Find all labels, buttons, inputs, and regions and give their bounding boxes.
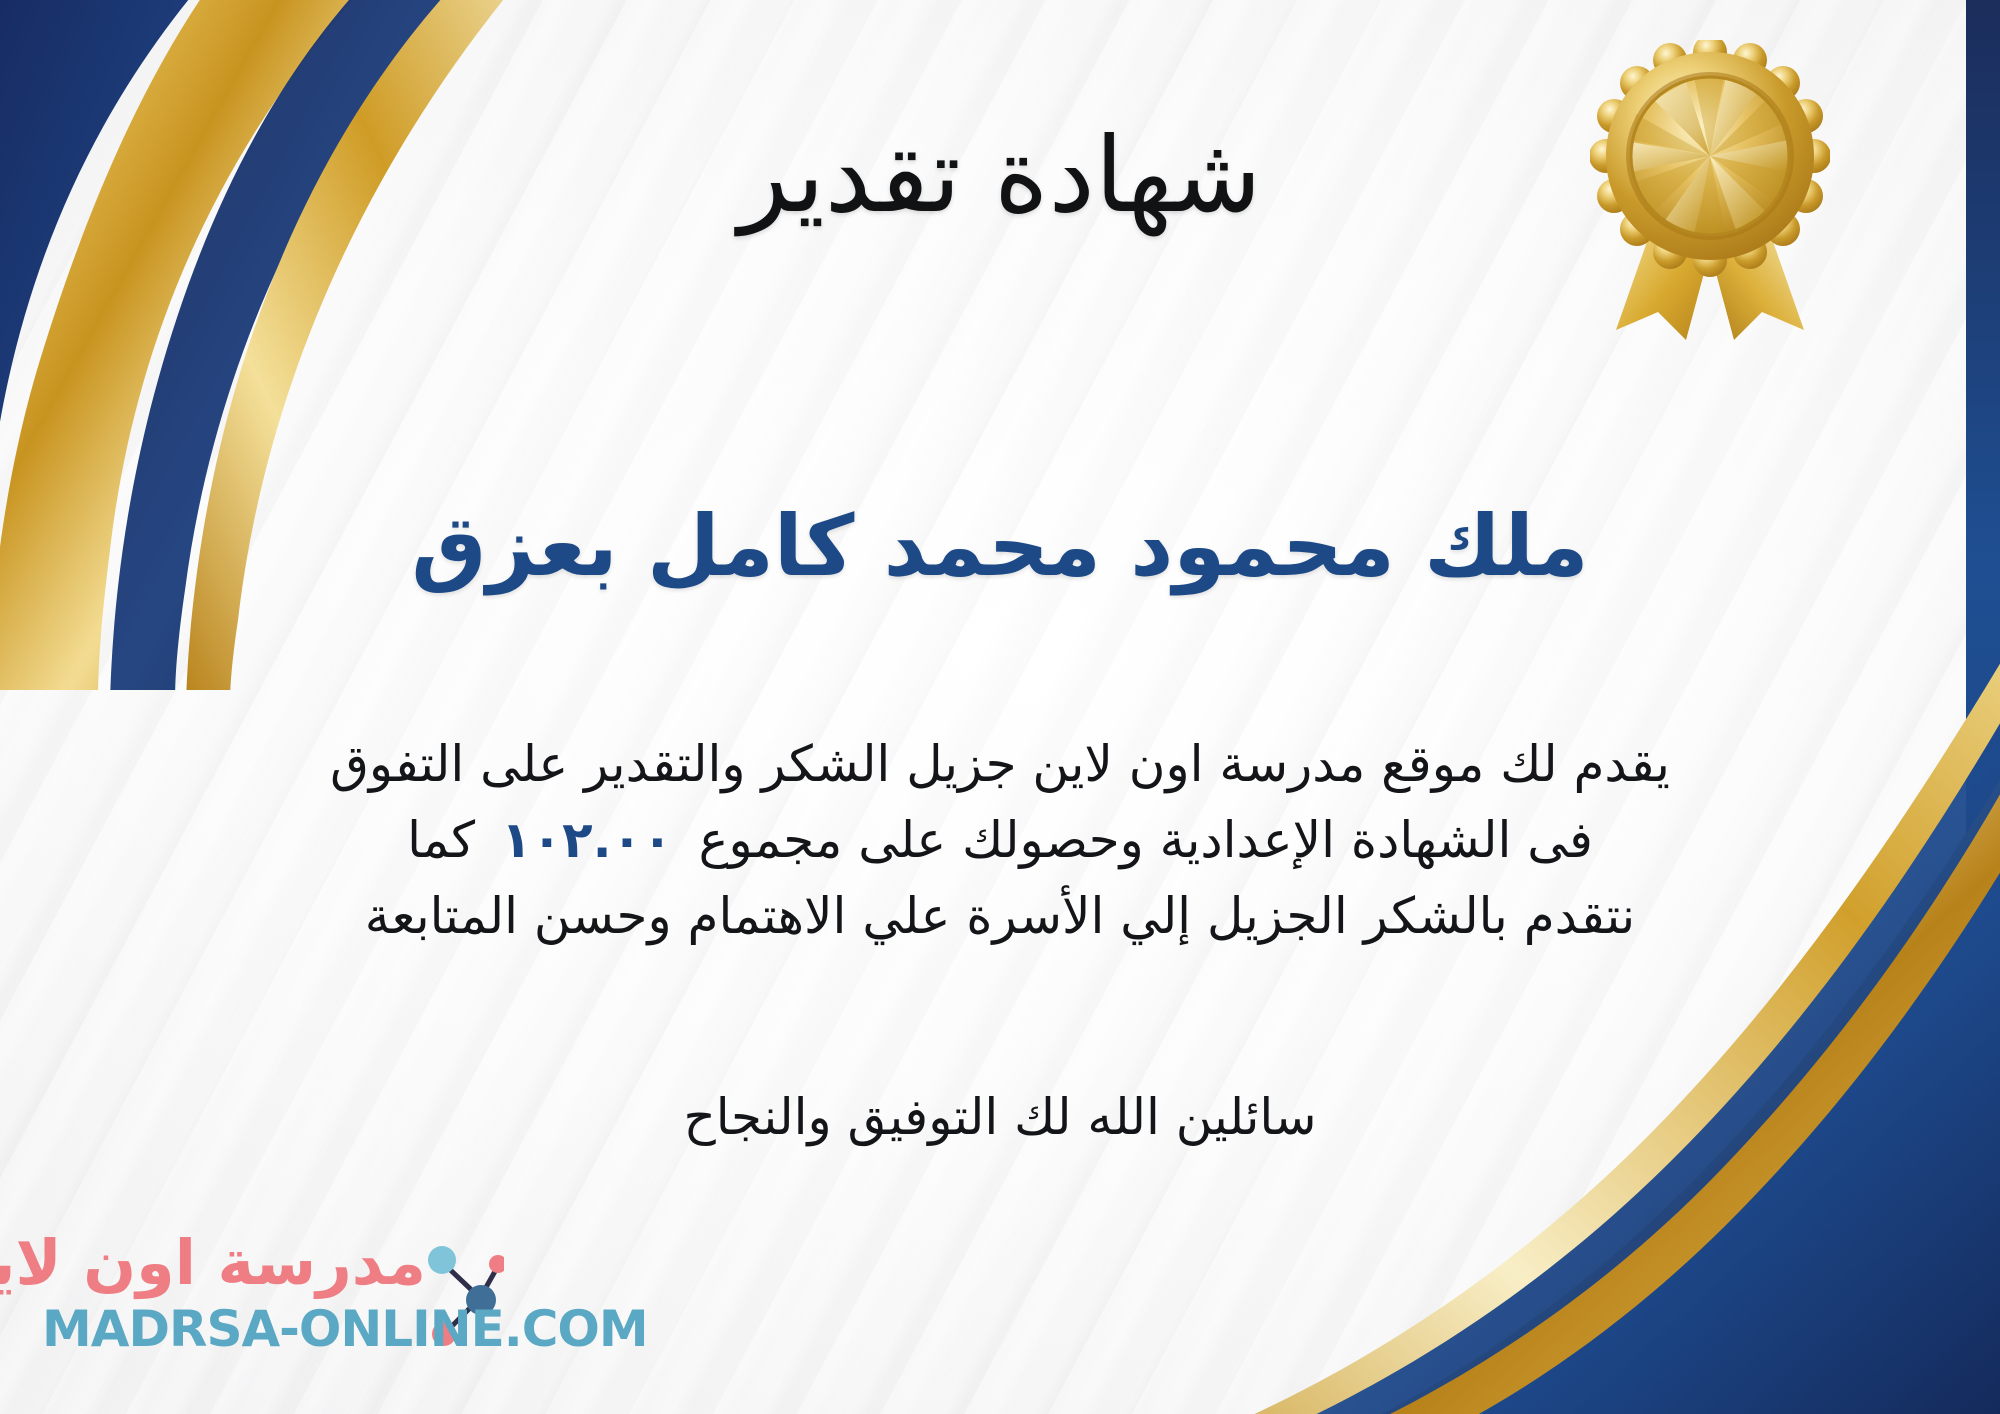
body-line-3: نتقدم بالشكر الجزيل إلي الأسرة علي الاهت… <box>60 878 1940 954</box>
body-line-1: يقدم لك موقع مدرسة اون لاين جزيل الشكر و… <box>60 726 1940 802</box>
certificate-canvas: شهادة تقدير ملك محمود محمد كامل بعزق يقد… <box>0 0 2000 1414</box>
brand-name-arabic: مدرسة اون لاين <box>0 1232 426 1294</box>
certificate-body: يقدم لك موقع مدرسة اون لاين جزيل الشكر و… <box>60 726 1940 954</box>
brand-website: MADRSA-ONLINE.COM <box>42 1304 648 1354</box>
body-line-2-suffix: كما <box>407 811 475 869</box>
page-title: شهادة تقدير <box>0 118 2000 232</box>
body-line-2: فى الشهادة الإعدادية وحصولك على مجموع١٠٢… <box>60 802 1940 878</box>
body-line-2-prefix: فى الشهادة الإعدادية وحصولك على مجموع <box>699 811 1593 869</box>
brand-logo[interactable]: مدرسة اون لاين MADRSA-ONLINE.COM <box>34 1228 504 1378</box>
recipient-name: ملك محمود محمد كامل بعزق <box>0 498 2000 595</box>
total-score-value: ١٠٢.٠٠ <box>475 811 699 869</box>
closing-wish-line: سائلين الله لك التوفيق والنجاح <box>0 1088 2000 1146</box>
